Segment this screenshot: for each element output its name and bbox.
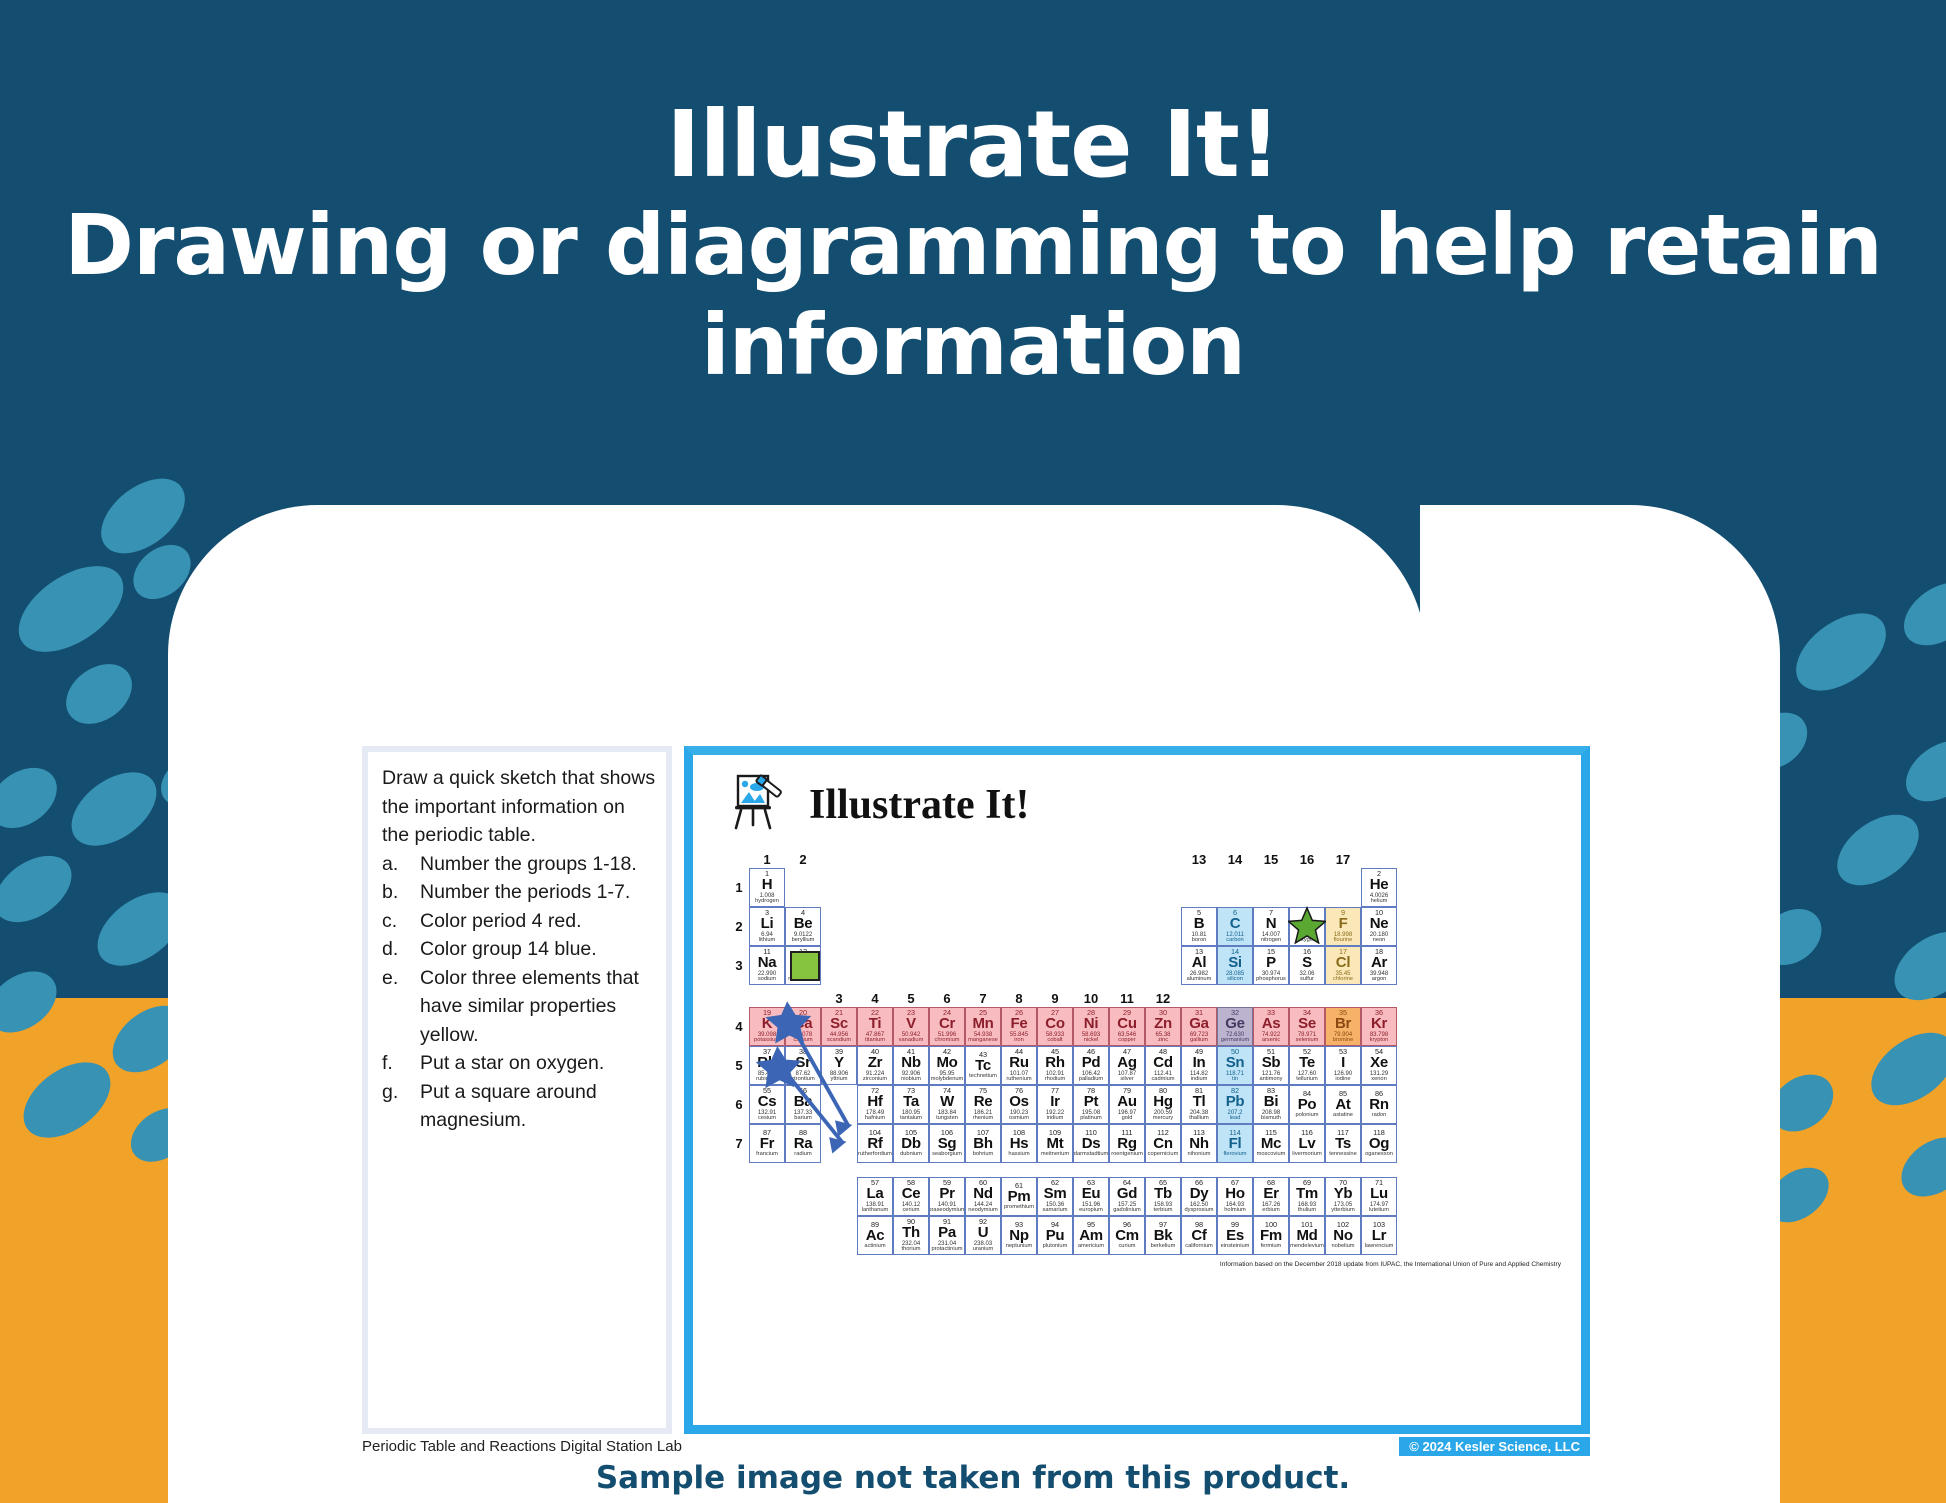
group-header-3: 3 [821,985,857,1007]
element-cell[interactable]: 100Fmfermium [1253,1216,1289,1255]
element-cell[interactable]: 43Tctechnetium [965,1046,1001,1085]
element-W[interactable]: 74W183.84tungsten [929,1085,965,1124]
group-header-18 [1361,985,1397,1007]
element-cell[interactable]: 104Rfrutherfordium [857,1124,893,1163]
element-Tb[interactable]: 65Tb158.93terbium [1145,1177,1181,1216]
element-cell[interactable]: 31Ga69.723gallium [1181,1007,1217,1046]
element-cell[interactable]: 98Cfcalifornium [1181,1216,1217,1255]
element-Te[interactable]: 52Te127.60tellurium [1289,1046,1325,1085]
element-Tc[interactable]: 43Tctechnetium [965,1046,1001,1085]
element-Rh[interactable]: 45Rh102.91rhodium [1037,1046,1073,1085]
element-Ca[interactable]: 20Ca40.078calcium [785,1007,821,1046]
element-cell[interactable]: 107Bhbohrium [965,1124,1001,1163]
element-cell[interactable]: 63Eu151.96europium [1073,1177,1109,1216]
element-Co[interactable]: 27Co58.933cobalt [1037,1007,1073,1046]
element-cell[interactable]: 92U238.03uranium [965,1216,1001,1255]
element-Si[interactable]: 14Si28.085silicon [1217,946,1253,985]
element-Bh[interactable]: 107Bhbohrium [965,1124,1001,1163]
element-Be[interactable]: 4Be9.0122beryllium [785,907,821,946]
period-row-7: 787Frfrancium88Raradium104Rfrutherfordiu… [729,1124,1569,1163]
element-symbol: He [1370,877,1389,892]
element-Xe[interactable]: 54Xe131.29xenon [1361,1046,1397,1085]
element-name: nickel [1084,1038,1099,1044]
element-Rb[interactable]: 37Rb85.468rubidium [749,1046,785,1085]
element-cell[interactable]: 65Tb158.93terbium [1145,1177,1181,1216]
element-symbol: Ce [902,1186,921,1201]
element-cell[interactable]: 56Ba137.33barium [785,1085,821,1124]
element-Sc[interactable]: 21Sc44.956scandium [821,1007,857,1046]
element-Tl[interactable]: 81Tl204.38thallium [1181,1085,1217,1124]
element-Lu[interactable]: 71Lu174.97lutetium [1361,1177,1397,1216]
element-cell[interactable]: 114Flflerovium [1217,1124,1253,1163]
element-At[interactable]: 85Atastatine [1325,1085,1361,1124]
element-name: neptunium [1006,1244,1033,1250]
element-F[interactable]: 9F18.998flourine [1325,907,1361,946]
element-Ir[interactable]: 77Ir192.22iridium [1037,1085,1073,1124]
element-Mn[interactable]: 25Mn54.938manganese [965,1007,1001,1046]
element-symbol: Bk [1154,1228,1173,1243]
element-cell[interactable]: 61Pmpromethium [1001,1177,1037,1216]
element-cell[interactable]: 47Ag107.87silver [1109,1046,1145,1085]
element-Hs[interactable]: 108Hshassium [1001,1124,1037,1163]
group-header-8 [1001,846,1037,868]
sheet-header: Illustrate It! [705,765,1569,840]
element-cell[interactable]: 84Popolonium [1289,1085,1325,1124]
element-cell[interactable]: 48Cd112.41cadmium [1145,1046,1181,1085]
element-Cs[interactable]: 55Cs132.91cesium [749,1085,785,1124]
element-cell[interactable]: 26Fe55.845iron [1001,1007,1037,1046]
element-cell[interactable]: 45Rh102.91rhodium [1037,1046,1073,1085]
element-cell[interactable]: 38Sr87.62strontium [785,1046,821,1085]
element-cell[interactable]: 67Ho164.93holmium [1217,1177,1253,1216]
element-cell[interactable]: 50Sn118.71tin [1217,1046,1253,1085]
element-cell[interactable]: 11Na22.990sodium [749,946,785,985]
element-symbol: Mn [972,1016,993,1031]
element-Fl[interactable]: 114Flflerovium [1217,1124,1253,1163]
element-cell[interactable]: 93Npneptunium [1001,1216,1037,1255]
footer-copyright: © 2024 Kesler Science, LLC [1399,1437,1590,1456]
element-cell[interactable]: 86Rnradon [1361,1085,1397,1124]
element-symbol: Bh [973,1136,992,1151]
element-cell[interactable]: 71Lu174.97lutetium [1361,1177,1397,1216]
element-cell[interactable]: 8O15.999oxygen [1289,907,1325,946]
element-cell[interactable]: 17Cl35.45chlorine [1325,946,1361,985]
group-header-5 [893,846,929,868]
empty-cell [1145,946,1181,985]
element-cell[interactable]: 75Re186.21rhenium [965,1085,1001,1124]
element-Mt[interactable]: 109Mtmeitnerium [1037,1124,1073,1163]
element-cell[interactable]: 101Mdmendelevium [1289,1216,1325,1255]
element-Es[interactable]: 99Eseinsteinium [1217,1216,1253,1255]
element-Cl[interactable]: 17Cl35.45chlorine [1325,946,1361,985]
element-cell[interactable]: 1H1.008hydrogen [749,868,785,907]
element-cell[interactable]: 90Th232.04thorium [893,1216,929,1255]
element-Og[interactable]: 118Ogoganesson [1361,1124,1397,1163]
element-Se[interactable]: 34Se78.971selenium [1289,1007,1325,1046]
element-Bk[interactable]: 97Bkberkelium [1145,1216,1181,1255]
element-cell[interactable]: 35Br79.904bromine [1325,1007,1361,1046]
element-cell[interactable]: 22Ti47.867titanium [857,1007,893,1046]
element-Sn[interactable]: 50Sn118.71tin [1217,1046,1253,1085]
group-header-14: 14 [1217,846,1253,868]
element-cell[interactable]: 83Bi208.98bismuth [1253,1085,1289,1124]
decorative-blob [0,755,68,840]
element-cell[interactable]: 79Au196.97gold [1109,1085,1145,1124]
element-symbol: Cr [939,1016,955,1031]
element-symbol: S [1302,955,1312,970]
element-name: nobelium [1331,1244,1354,1250]
element-cell[interactable]: 9F18.998flourine [1325,907,1361,946]
element-Pr[interactable]: 59Pr140.91praseodymium [929,1177,965,1216]
element-Gd[interactable]: 64Gd157.25gadolinium [1109,1177,1145,1216]
element-name: technetium [969,1074,997,1080]
element-Li[interactable]: 3Li6.94lithium [749,907,785,946]
element-Th[interactable]: 90Th232.04thorium [893,1216,929,1255]
element-cell[interactable]: 85Atastatine [1325,1085,1361,1124]
element-cell[interactable]: 69Tm168.93thulium [1289,1177,1325,1216]
element-cell[interactable]: 3Li6.94lithium [749,907,785,946]
decorative-blob [1858,1018,1946,1120]
instruction-item: d.Color group 14 blue. [382,935,656,964]
element-Br[interactable]: 35Br79.904bromine [1325,1007,1361,1046]
element-cell[interactable]: 95Amamericium [1073,1216,1109,1255]
element-symbol: Y [834,1055,844,1070]
element-cell[interactable]: 64Gd157.25gadolinium [1109,1177,1145,1216]
element-symbol: Er [1263,1186,1278,1201]
element-cell[interactable]: 13Al26.982aluminum [1181,946,1217,985]
element-cell[interactable]: 15P30.974phosphorus [1253,946,1289,985]
element-Zr[interactable]: 40Zr91.224zirconium [857,1046,893,1085]
element-Ba[interactable]: 56Ba137.33barium [785,1085,821,1124]
element-cell[interactable]: 73Ta180.95tantalum [893,1085,929,1124]
element-cell[interactable]: 12Mg24.305magnesium [785,946,821,985]
element-cell[interactable]: 36Kr83.798krypton [1361,1007,1397,1046]
element-cell[interactable]: 24Cr51.996chromium [929,1007,965,1046]
element-cell[interactable]: 52Te127.60tellurium [1289,1046,1325,1085]
element-symbol: Sr [795,1055,810,1070]
element-cell[interactable]: 94Puplutonium [1037,1216,1073,1255]
group-header-4: 4 [857,985,893,1007]
element-C[interactable]: 6C12.011carbon [1217,907,1253,946]
element-cell[interactable]: 102Nonobelium [1325,1216,1361,1255]
element-Ce[interactable]: 58Ce140.12cerium [893,1177,929,1216]
element-In[interactable]: 49In114.82indium [1181,1046,1217,1085]
element-Fm[interactable]: 100Fmfermium [1253,1216,1289,1255]
element-symbol: Cl [1336,955,1350,970]
element-cell[interactable]: 59Pr140.91praseodymium [929,1177,965,1216]
element-cell[interactable]: 72Hf178.49hafnium [857,1085,893,1124]
element-symbol: Pu [1046,1228,1065,1243]
element-cell[interactable]: 115Mcmoscovium [1253,1124,1289,1163]
instruction-text: Number the periods 1-7. [420,878,656,907]
element-symbol: Os [1009,1094,1028,1109]
element-Lv[interactable]: 116Lvlivermorium [1289,1124,1325,1163]
element-cell[interactable]: 30Zn65.38zinc [1145,1007,1181,1046]
element-cell[interactable]: 74W183.84tungsten [929,1085,965,1124]
element-cell[interactable]: 99Eseinsteinium [1217,1216,1253,1255]
element-La[interactable]: 57La138.91lanthanum [857,1177,893,1216]
element-cell[interactable]: 51Sb121.76antimony [1253,1046,1289,1085]
element-B[interactable]: 5B10.81boron [1181,907,1217,946]
element-cell[interactable]: 23V50.942vanadium [893,1007,929,1046]
element-cell[interactable]: 33As74.922arsenic [1253,1007,1289,1046]
element-Os[interactable]: 76Os190.23osmium [1001,1085,1037,1124]
element-cell[interactable]: 29Cu63.546copper [1109,1007,1145,1046]
element-cell[interactable]: 54Xe131.29xenon [1361,1046,1397,1085]
element-P[interactable]: 15P30.974phosphorus [1253,946,1289,985]
element-Lr[interactable]: 103Lrlawrencium [1361,1216,1397,1255]
element-Dy[interactable]: 66Dy162.50dysprosium [1181,1177,1217,1216]
element-Cr[interactable]: 24Cr51.996chromium [929,1007,965,1046]
element-cell[interactable]: 106Sgseaborgium [929,1124,965,1163]
element-Ti[interactable]: 22Ti47.867titanium [857,1007,893,1046]
element-cell[interactable]: 49In114.82indium [1181,1046,1217,1085]
element-symbol: Ru [1009,1055,1028,1070]
element-Ne[interactable]: 10Ne20.180neon [1361,907,1397,946]
element-name: cadmium [1151,1077,1174,1083]
element-cell[interactable]: 5B10.81boron [1181,907,1217,946]
element-Md[interactable]: 101Mdmendelevium [1289,1216,1325,1255]
element-name: tin [1232,1077,1238,1083]
element-Mc[interactable]: 115Mcmoscovium [1253,1124,1289,1163]
empty-cell [729,1177,749,1216]
period-label-4: 4 [729,1007,749,1046]
element-cell[interactable]: 6C12.011carbon [1217,907,1253,946]
element-cell[interactable]: 42Mo95.95molybdenum [929,1046,965,1085]
element-Al[interactable]: 13Al26.982aluminum [1181,946,1217,985]
element-Zn[interactable]: 30Zn65.38zinc [1145,1007,1181,1046]
element-cell[interactable]: 28Ni58.693nickel [1073,1007,1109,1046]
element-Yb[interactable]: 70Yb173.05ytterbium [1325,1177,1361,1216]
element-cell[interactable]: 32Ge72.630germanium [1217,1007,1253,1046]
element-Na[interactable]: 11Na22.990sodium [749,946,785,985]
element-cell[interactable]: 108Hshassium [1001,1124,1037,1163]
element-name: carbon [1226,938,1243,944]
element-Ga[interactable]: 31Ga69.723gallium [1181,1007,1217,1046]
element-I[interactable]: 53I126.90iodine [1325,1046,1361,1085]
element-name: bohrium [973,1152,994,1158]
element-cell[interactable]: 14Si28.085silicon [1217,946,1253,985]
element-Ac[interactable]: 89Acactinium [857,1216,893,1255]
element-Cu[interactable]: 29Cu63.546copper [1109,1007,1145,1046]
element-cell[interactable]: 46Pd106.42palladium [1073,1046,1109,1085]
element-cell[interactable]: 7N14.007nitrogen [1253,907,1289,946]
element-Pd[interactable]: 46Pd106.42palladium [1073,1046,1109,1085]
element-cell[interactable]: 70Yb173.05ytterbium [1325,1177,1361,1216]
element-cell[interactable]: 81Tl204.38thallium [1181,1085,1217,1124]
element-cell[interactable]: 88Raradium [785,1124,821,1163]
element-Ra[interactable]: 88Raradium [785,1124,821,1163]
element-Db[interactable]: 105Dbdubnium [893,1124,929,1163]
element-cell[interactable]: 66Dy162.50dysprosium [1181,1177,1217,1216]
element-As[interactable]: 33As74.922arsenic [1253,1007,1289,1046]
element-name: europium [1079,1208,1103,1214]
element-Ar[interactable]: 18Ar39.948argon [1361,946,1397,985]
element-Rg[interactable]: 111Rgroentgenium [1109,1124,1145,1163]
element-cell[interactable]: 55Cs132.91cesium [749,1085,785,1124]
element-cell[interactable]: 44Ru101.07ruthenium [1001,1046,1037,1085]
element-name: molybdenum [931,1077,964,1083]
element-Y[interactable]: 39Y88.906yttrium [821,1046,857,1085]
element-U[interactable]: 92U238.03uranium [965,1216,1001,1255]
element-Hf[interactable]: 72Hf178.49hafnium [857,1085,893,1124]
element-Ts[interactable]: 117Tstennessine [1325,1124,1361,1163]
element-name: chlorine [1333,977,1353,983]
element-cell[interactable]: 117Tstennessine [1325,1124,1361,1163]
element-Kr[interactable]: 36Kr83.798krypton [1361,1007,1397,1046]
element-Bi[interactable]: 83Bi208.98bismuth [1253,1085,1289,1124]
element-Er[interactable]: 68Er167.26erbium [1253,1177,1289,1216]
element-cell[interactable]: 4Be9.0122beryllium [785,907,821,946]
element-Pa[interactable]: 91Pa231.04protactinium [929,1216,965,1255]
element-symbol: Rf [867,1136,882,1151]
element-cell[interactable]: 19K39.098potassium [749,1007,785,1046]
group-header-14 [1217,985,1253,1007]
element-cell[interactable]: 112Cncopernicium [1145,1124,1181,1163]
element-V[interactable]: 23V50.942vanadium [893,1007,929,1046]
element-Fe[interactable]: 26Fe55.845iron [1001,1007,1037,1046]
element-symbol: Sg [938,1136,957,1151]
annotation-green-square [790,951,820,981]
element-Cf[interactable]: 98Cfcalifornium [1181,1216,1217,1255]
element-Re[interactable]: 75Re186.21rhenium [965,1085,1001,1124]
element-name: antimony [1259,1077,1282,1083]
element-Sg[interactable]: 106Sgseaborgium [929,1124,965,1163]
group-header-11: 11 [1109,985,1145,1007]
element-symbol: Yb [1334,1186,1353,1201]
instruction-marker: c. [382,907,420,936]
element-Nh[interactable]: 113Nhnihonium [1181,1124,1217,1163]
element-Ds[interactable]: 110Dsdarmstadtium [1073,1124,1109,1163]
element-name: krypton [1370,1038,1389,1044]
element-Pu[interactable]: 94Puplutonium [1037,1216,1073,1255]
element-cell[interactable]: 109Mtmeitnerium [1037,1124,1073,1163]
element-Sm[interactable]: 62Sm150.36samarium [1037,1177,1073,1216]
element-name: lanthanum [862,1208,889,1214]
element-S[interactable]: 16S32.06sulfur [1289,946,1325,985]
element-cell[interactable]: 116Lvlivermorium [1289,1124,1325,1163]
element-cell[interactable]: 53I126.90iodine [1325,1046,1361,1085]
element-name: niobium [901,1077,921,1083]
element-Cm[interactable]: 96Cmcurium [1109,1216,1145,1255]
element-Nb[interactable]: 41Nb92.906niobium [893,1046,929,1085]
element-cell[interactable]: 21Sc44.956scandium [821,1007,857,1046]
element-cell[interactable]: 89Acactinium [857,1216,893,1255]
element-cell[interactable]: 96Cmcurium [1109,1216,1145,1255]
element-Ru[interactable]: 44Ru101.07ruthenium [1001,1046,1037,1085]
element-Po[interactable]: 84Popolonium [1289,1085,1325,1124]
element-Ge[interactable]: 32Ge72.630germanium [1217,1007,1253,1046]
element-symbol: Ca [794,1016,813,1031]
element-cell[interactable]: 113Nhnihonium [1181,1124,1217,1163]
element-cell[interactable]: 41Nb92.906niobium [893,1046,929,1085]
element-Fr[interactable]: 87Frfrancium [749,1124,785,1163]
element-cell[interactable]: 97Bkberkelium [1145,1216,1181,1255]
element-cell[interactable]: 105Dbdubnium [893,1124,929,1163]
element-Ni[interactable]: 28Ni58.693nickel [1073,1007,1109,1046]
element-K[interactable]: 19K39.098potassium [749,1007,785,1046]
element-cell[interactable]: 20Ca40.078calcium [785,1007,821,1046]
element-cell[interactable]: 18Ar39.948argon [1361,946,1397,985]
element-cell[interactable]: 103Lrlawrencium [1361,1216,1397,1255]
element-Ho[interactable]: 67Ho164.93holmium [1217,1177,1253,1216]
element-symbol: Pr [939,1186,954,1201]
element-Sr[interactable]: 38Sr87.62strontium [785,1046,821,1085]
element-symbol: Ag [1117,1055,1136,1070]
element-cell[interactable]: 16S32.06sulfur [1289,946,1325,985]
element-name: helium [1371,899,1388,905]
element-cell[interactable]: 58Ce140.12cerium [893,1177,929,1216]
element-Au[interactable]: 79Au196.97gold [1109,1085,1145,1124]
element-Rf[interactable]: 104Rfrutherfordium [857,1124,893,1163]
element-Tm[interactable]: 69Tm168.93thulium [1289,1177,1325,1216]
element-name: bromine [1333,1038,1354,1044]
element-cell[interactable]: 34Se78.971selenium [1289,1007,1325,1046]
element-Nd[interactable]: 60Nd144.24neodymium [965,1177,1001,1216]
element-cell[interactable]: 62Sm150.36samarium [1037,1177,1073,1216]
element-name: lawrencium [1365,1244,1394,1250]
element-cell[interactable]: 82Pb207.2lead [1217,1085,1253,1124]
element-cell[interactable]: 27Co58.933cobalt [1037,1007,1073,1046]
element-cell[interactable]: 60Nd144.24neodymium [965,1177,1001,1216]
element-cell[interactable]: 80Hg200.59mercury [1145,1085,1181,1124]
element-cell[interactable]: 76Os190.23osmium [1001,1085,1037,1124]
element-Rn[interactable]: 86Rnradon [1361,1085,1397,1124]
empty-cell [1001,946,1037,985]
element-H[interactable]: 1H1.008hydrogen [749,868,785,907]
element-Mo[interactable]: 42Mo95.95molybdenum [929,1046,965,1085]
element-Eu[interactable]: 63Eu151.96europium [1073,1177,1109,1216]
element-cell[interactable]: 111Rgroentgenium [1109,1124,1145,1163]
element-Sb[interactable]: 51Sb121.76antimony [1253,1046,1289,1085]
element-cell[interactable]: 2He4.0026helium [1361,868,1397,907]
element-Pb[interactable]: 82Pb207.2lead [1217,1085,1253,1124]
element-Ta[interactable]: 73Ta180.95tantalum [893,1085,929,1124]
element-cell[interactable]: 25Mn54.938manganese [965,1007,1001,1046]
element-symbol: Ds [1082,1136,1101,1151]
element-cell[interactable]: 39Y88.906yttrium [821,1046,857,1085]
element-symbol: Cf [1191,1228,1206,1243]
element-name: astatine [1333,1113,1353,1119]
element-cell[interactable]: 110Dsdarmstadtium [1073,1124,1109,1163]
element-symbol: Ba [794,1094,813,1109]
element-Cd[interactable]: 48Cd112.41cadmium [1145,1046,1181,1085]
element-Hg[interactable]: 80Hg200.59mercury [1145,1085,1181,1124]
element-cell[interactable]: 68Er167.26erbium [1253,1177,1289,1216]
element-cell[interactable]: 118Ogoganesson [1361,1124,1397,1163]
element-Ag[interactable]: 47Ag107.87silver [1109,1046,1145,1085]
element-No[interactable]: 102Nonobelium [1325,1216,1361,1255]
element-cell[interactable]: 77Ir192.22iridium [1037,1085,1073,1124]
element-N[interactable]: 7N14.007nitrogen [1253,907,1289,946]
element-Cn[interactable]: 112Cncopernicium [1145,1124,1181,1163]
element-Np[interactable]: 93Npneptunium [1001,1216,1037,1255]
element-cell[interactable]: 87Frfrancium [749,1124,785,1163]
element-cell[interactable]: 37Rb85.468rubidium [749,1046,785,1085]
element-cell[interactable]: 40Zr91.224zirconium [857,1046,893,1085]
period-label-7: 7 [729,1124,749,1163]
element-cell[interactable]: 78Pt195.08platinum [1073,1085,1109,1124]
element-Pt[interactable]: 78Pt195.08platinum [1073,1085,1109,1124]
element-He[interactable]: 2He4.0026helium [1361,868,1397,907]
element-cell[interactable]: 57La138.91lanthanum [857,1177,893,1216]
period-row-4: 419K39.098potassium20Ca40.078calcium21Sc… [729,1007,1569,1046]
element-Pm[interactable]: 61Pmpromethium [1001,1177,1037,1216]
empty-cell [1145,907,1181,946]
element-Am[interactable]: 95Amamericium [1073,1216,1109,1255]
element-cell[interactable]: 91Pa231.04protactinium [929,1216,965,1255]
element-cell[interactable]: 10Ne20.180neon [1361,907,1397,946]
